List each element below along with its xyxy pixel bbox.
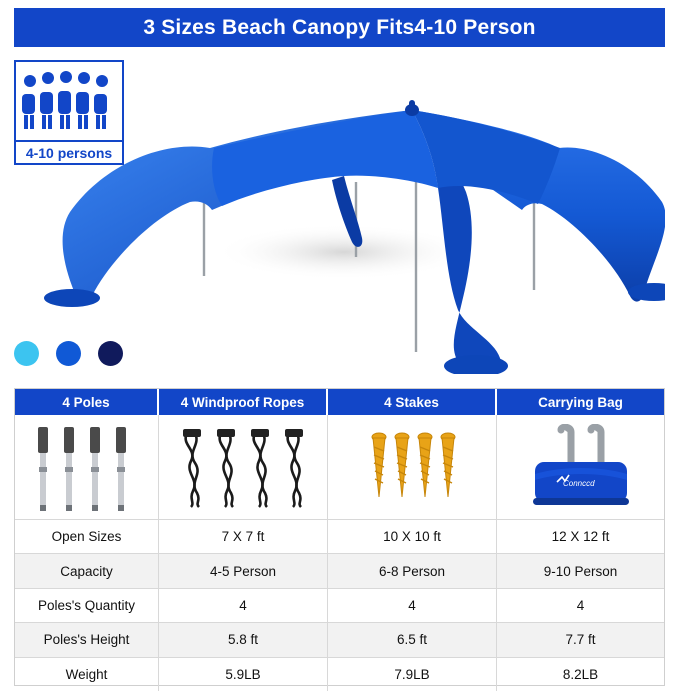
col-header-ropes: 4 Windproof Ropes [159,389,328,415]
col-header-bag: Carrying Bag [497,389,664,415]
ropes-cell [159,415,328,519]
table-header-row: 4 Poles 4 Windproof Ropes 4 Stakes Carry… [15,389,664,415]
hero-image: 4-10 persons [14,52,665,374]
col-header-stakes: 4 Stakes [328,389,497,415]
row-value: 9-10 Person [497,554,664,587]
row-value: 10 X 10 ft [328,520,497,553]
row-label: Open Sizes [15,520,159,553]
row-value: 7.9LB [328,658,497,691]
row-value: 8.2LB [497,658,664,691]
ropes-icon [173,425,313,509]
light-blue-swatch[interactable] [14,341,39,366]
table-row: Weight 5.9LB 7.9LB 8.2LB [15,657,664,691]
row-value: 4 [497,589,664,622]
row-label: Weight [15,658,159,691]
blue-swatch[interactable] [56,341,81,366]
row-value: 7 X 7 ft [159,520,328,553]
product-infographic: 3 Sizes Beach Canopy Fits4-10 Person [0,0,679,698]
page-title: 3 Sizes Beach Canopy Fits4-10 Person [14,8,665,47]
carrying-bag-cell: Connccd [497,415,664,519]
table-row: Open Sizes 7 X 7 ft 10 X 10 ft 12 X 12 f… [15,519,664,553]
people-group-icon [16,68,122,134]
table-row: Poles's Quantity 4 4 4 [15,588,664,622]
row-value: 6.5 ft [328,623,497,656]
capacity-badge: 4-10 persons [14,60,124,165]
color-swatches [14,341,123,366]
table-row: Poles's Height 5.8 ft 6.5 ft 7.7 ft [15,622,664,656]
row-label: Poles's Height [15,623,159,656]
row-value: 6-8 Person [328,554,497,587]
page-title-text: 3 Sizes Beach Canopy Fits4-10 Person [143,16,535,40]
navy-swatch[interactable] [98,341,123,366]
stakes-cell [328,415,497,519]
row-label: Poles's Quantity [15,589,159,622]
row-value: 4 [328,589,497,622]
carrying-bag-icon: Connccd [521,424,641,510]
spec-table: 4 Poles 4 Windproof Ropes 4 Stakes Carry… [14,388,665,686]
stakes-icon [362,427,462,507]
table-row: Capacity 4-5 Person 6-8 Person 9-10 Pers… [15,553,664,587]
row-value: 5.9LB [159,658,328,691]
row-value: 12 X 12 ft [497,520,664,553]
row-label: Capacity [15,554,159,587]
row-value: 4 [159,589,328,622]
row-value: 4-5 Person [159,554,328,587]
capacity-badge-label: 4-10 persons [14,140,124,165]
poles-cell [15,415,159,519]
row-value: 7.7 ft [497,623,664,656]
table-image-row: Connccd [15,415,664,519]
col-header-poles: 4 Poles [15,389,159,415]
row-value: 5.8 ft [159,623,328,656]
svg-text:Connccd: Connccd [563,479,595,488]
poles-icon [32,423,142,511]
